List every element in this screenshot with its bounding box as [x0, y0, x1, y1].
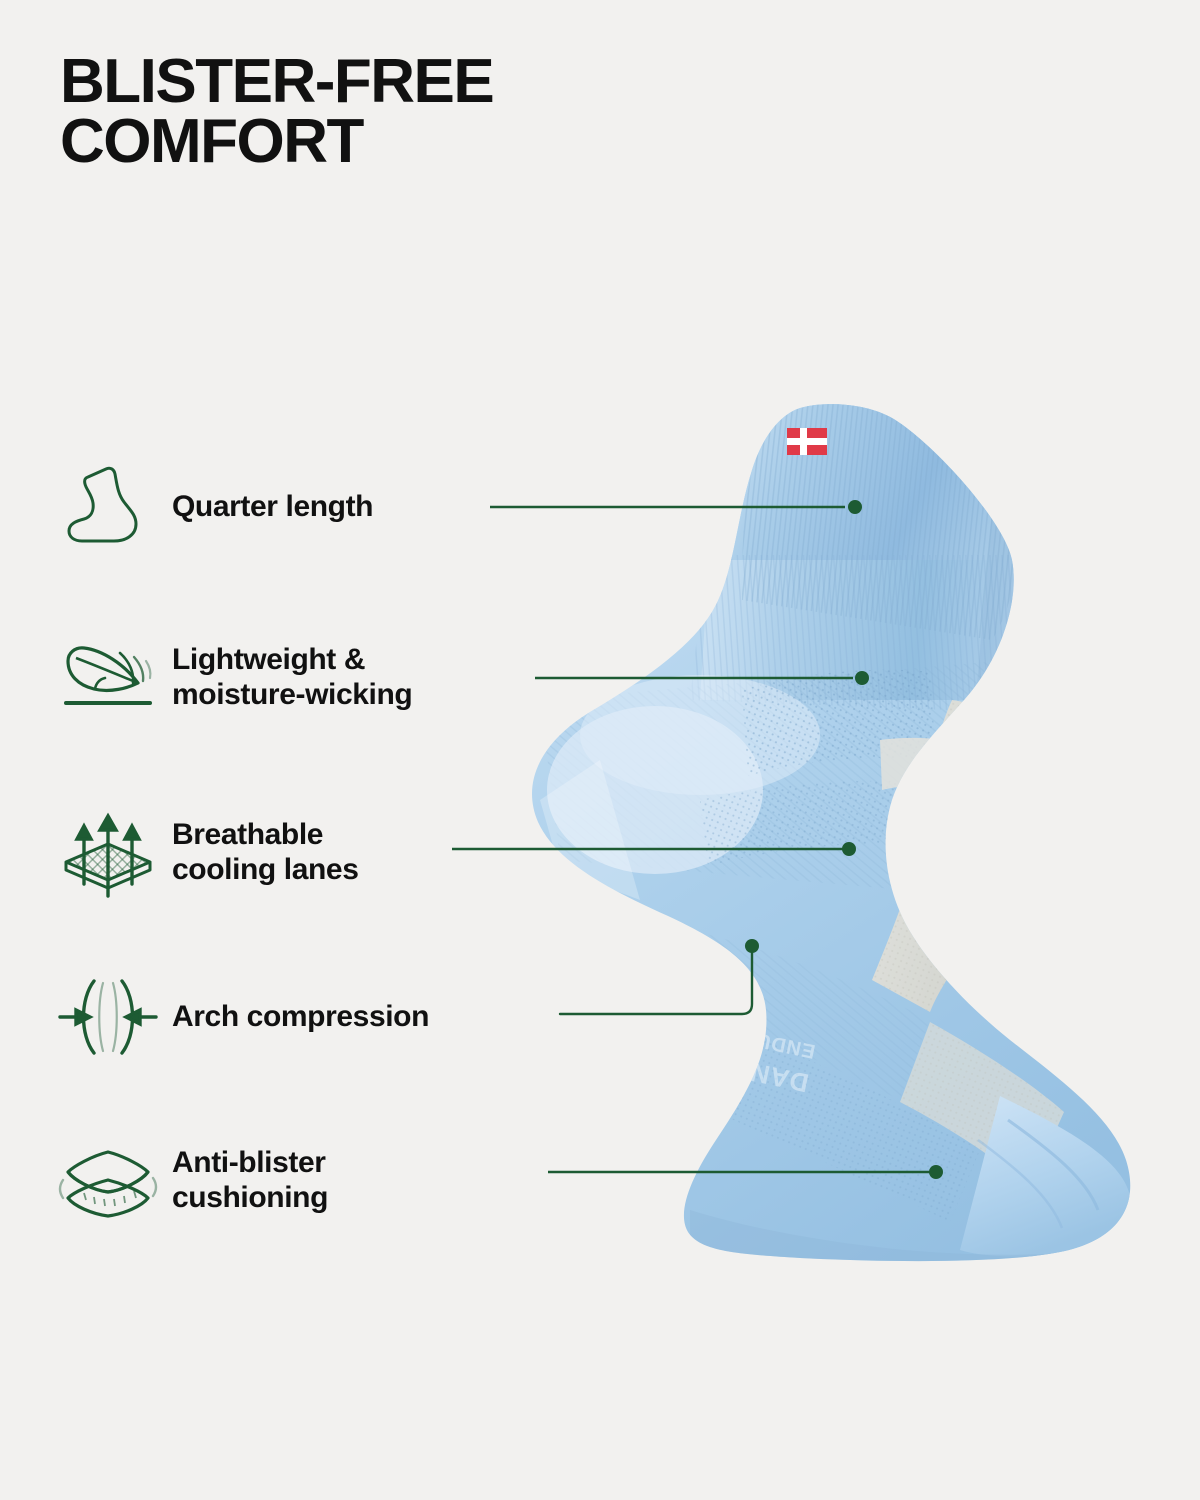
page-title: BLISTER-FREE COMFORT — [60, 52, 700, 171]
leader-dot-breathable — [842, 842, 856, 856]
leader-dot-anti-blister — [929, 1165, 943, 1179]
feature-label: Lightweight & moisture-wicking — [172, 642, 412, 713]
breathable-mesh-icon — [52, 800, 164, 904]
feature-lightweight-moisture-wicking: Lightweight & moisture-wicking — [52, 625, 532, 729]
danish-flag-badge — [787, 428, 827, 455]
leader-dot-quarter-length — [848, 500, 862, 514]
feature-label: Arch compression — [172, 999, 429, 1034]
product-sock-image: DANISH ENDURANCE — [0, 0, 1200, 1500]
svg-text:ENDURANCE: ENDURANCE — [679, 1012, 817, 1062]
feature-anti-blister-cushioning: Anti-blister cushioning — [52, 1128, 532, 1232]
svg-text:DANISH: DANISH — [702, 1047, 812, 1098]
feature-arch-compression: Arch compression — [52, 965, 532, 1069]
feature-breathable-cooling-lanes: Breathable cooling lanes — [52, 800, 532, 904]
leader-dot-arch-compression — [745, 939, 759, 953]
feature-label: Quarter length — [172, 489, 373, 524]
leader-arch-compression — [560, 952, 752, 1014]
cushion-layers-icon — [52, 1128, 164, 1232]
callout-leader-lines — [0, 0, 1200, 1500]
compression-arrows-icon — [52, 965, 164, 1069]
leader-dot-lightweight — [855, 671, 869, 685]
feature-label: Anti-blister cushioning — [172, 1145, 328, 1216]
sock-outline-icon — [52, 455, 164, 559]
feather-icon — [52, 625, 164, 729]
feature-label: Breathable cooling lanes — [172, 817, 359, 888]
feature-quarter-length: Quarter length — [52, 455, 532, 559]
infographic-canvas: BLISTER-FREE COMFORT — [0, 0, 1200, 1500]
